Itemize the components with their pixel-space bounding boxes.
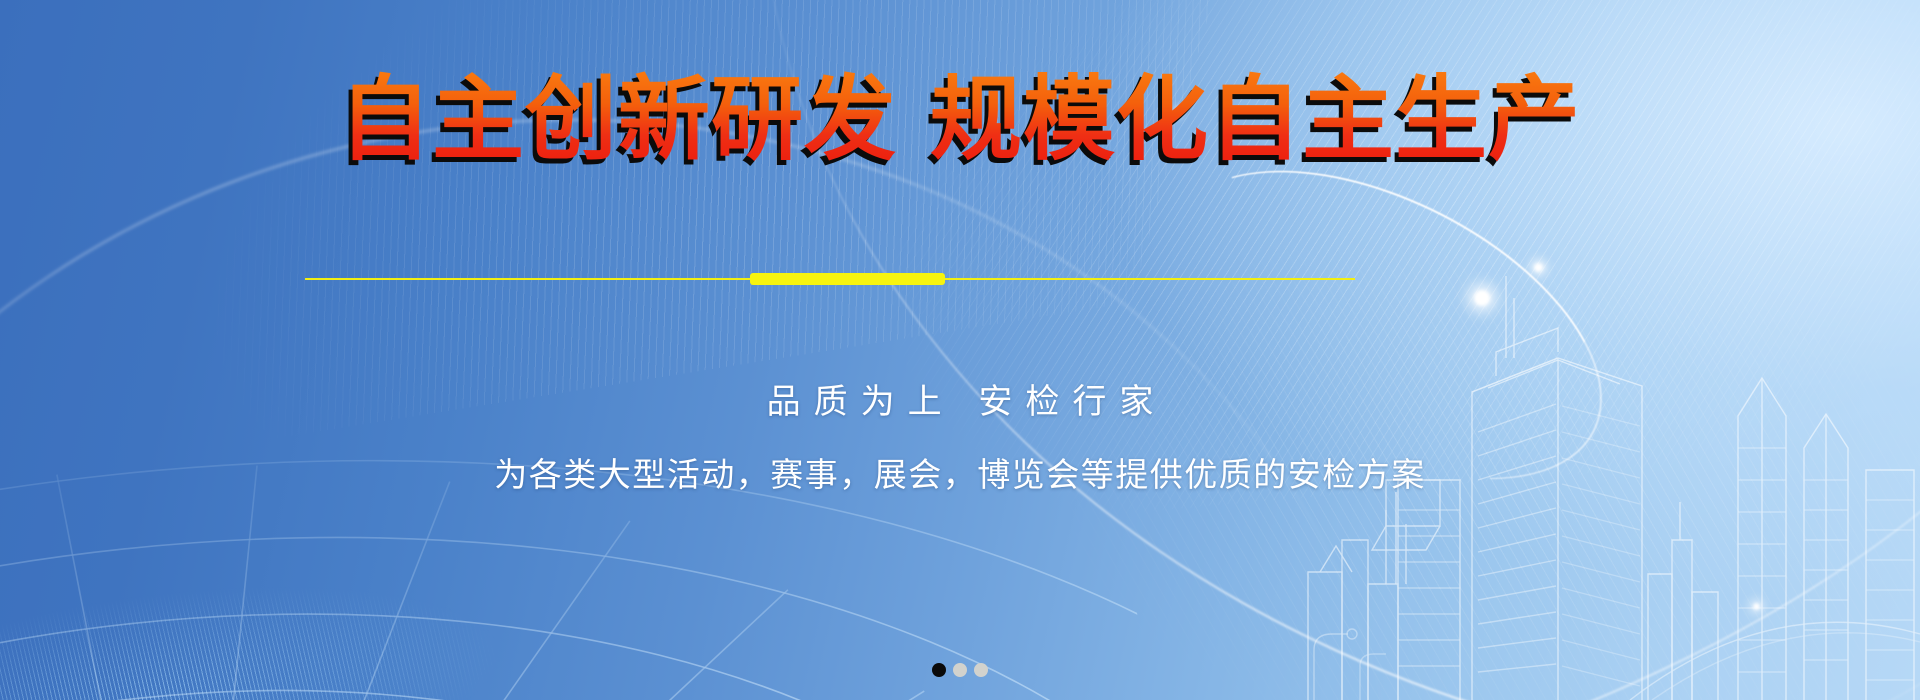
carousel-dot-3[interactable] bbox=[974, 663, 988, 677]
divider-thick-segment bbox=[750, 273, 945, 285]
banner-content: 自主创新研发 规模化自主生产 品质为上 安检行家 为各类大型活动，赛事，展会，博… bbox=[0, 0, 1920, 700]
hero-banner: 自主创新研发 规模化自主生产 品质为上 安检行家 为各类大型活动，赛事，展会，博… bbox=[0, 0, 1920, 700]
banner-headline: 自主创新研发 规模化自主生产 bbox=[0, 70, 1920, 169]
banner-subtitle-secondary: 为各类大型活动，赛事，展会，博览会等提供优质的安检方案 bbox=[0, 448, 1920, 496]
carousel-dot-1[interactable] bbox=[932, 663, 946, 677]
carousel-dot-2[interactable] bbox=[953, 663, 967, 677]
yellow-divider bbox=[305, 272, 1355, 286]
carousel-indicators bbox=[0, 663, 1920, 677]
banner-subtitle-primary: 品质为上 安检行家 bbox=[0, 374, 1920, 423]
